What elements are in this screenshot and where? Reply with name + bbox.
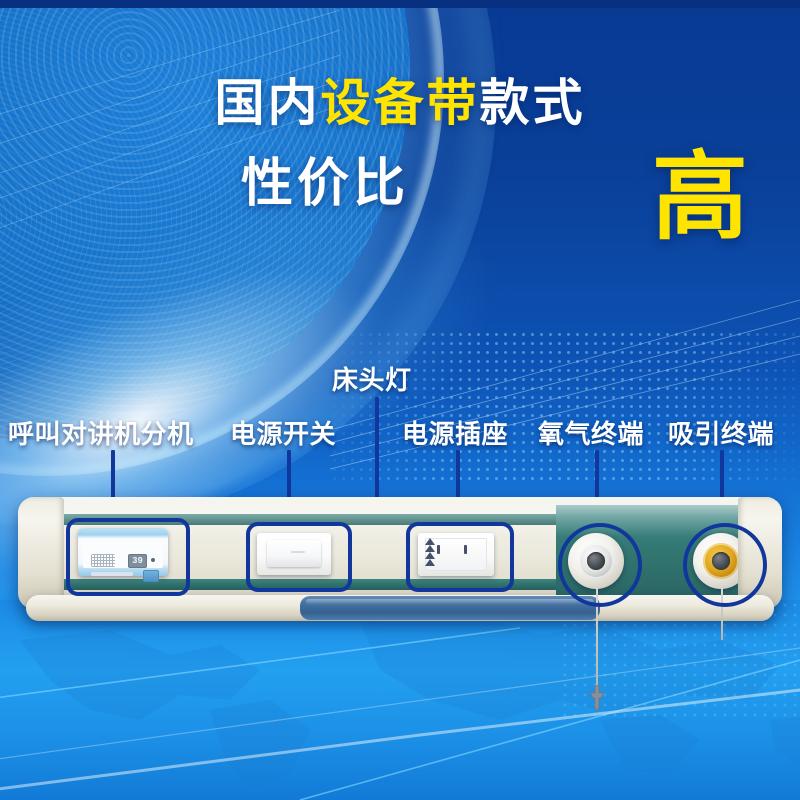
highlight-circle-oxygen (558, 523, 642, 607)
headline-part-2: 设备带 (321, 75, 480, 131)
panel-rail-glass-insert (300, 596, 600, 620)
pull-cord-knob-icon[interactable] (585, 685, 609, 711)
banner-stage: 国内设备带款式 性价比 高 呼叫对讲机分机 电源开关 床头灯 电源插座 氧气终端… (0, 0, 800, 800)
highlight-box-intercom (66, 518, 190, 596)
highlight-box-power-switch (246, 522, 352, 592)
callout-label-intercom: 呼叫对讲机分机 (8, 414, 194, 451)
callout-label-oxygen: 氧气终端 (538, 414, 644, 451)
callout-label-suction: 吸引终端 (668, 414, 774, 451)
callout-label-bed-lamp: 床头灯 (332, 360, 412, 397)
panel-end-cap-left (18, 497, 64, 609)
highlight-circle-suction (683, 523, 767, 607)
highlight-box-power-socket (406, 522, 514, 592)
halftone-dot-field (330, 330, 800, 480)
headline-part-3: 款式 (480, 75, 586, 131)
headline-emphasis-gao: 高 (652, 150, 748, 246)
headline-line-1: 国内设备带款式 (0, 78, 800, 128)
top-edge-band (0, 0, 800, 8)
headline-part-1: 国内 (215, 75, 321, 131)
callout-label-power-socket: 电源插座 (402, 414, 508, 451)
callout-label-power-switch: 电源开关 (230, 414, 336, 451)
